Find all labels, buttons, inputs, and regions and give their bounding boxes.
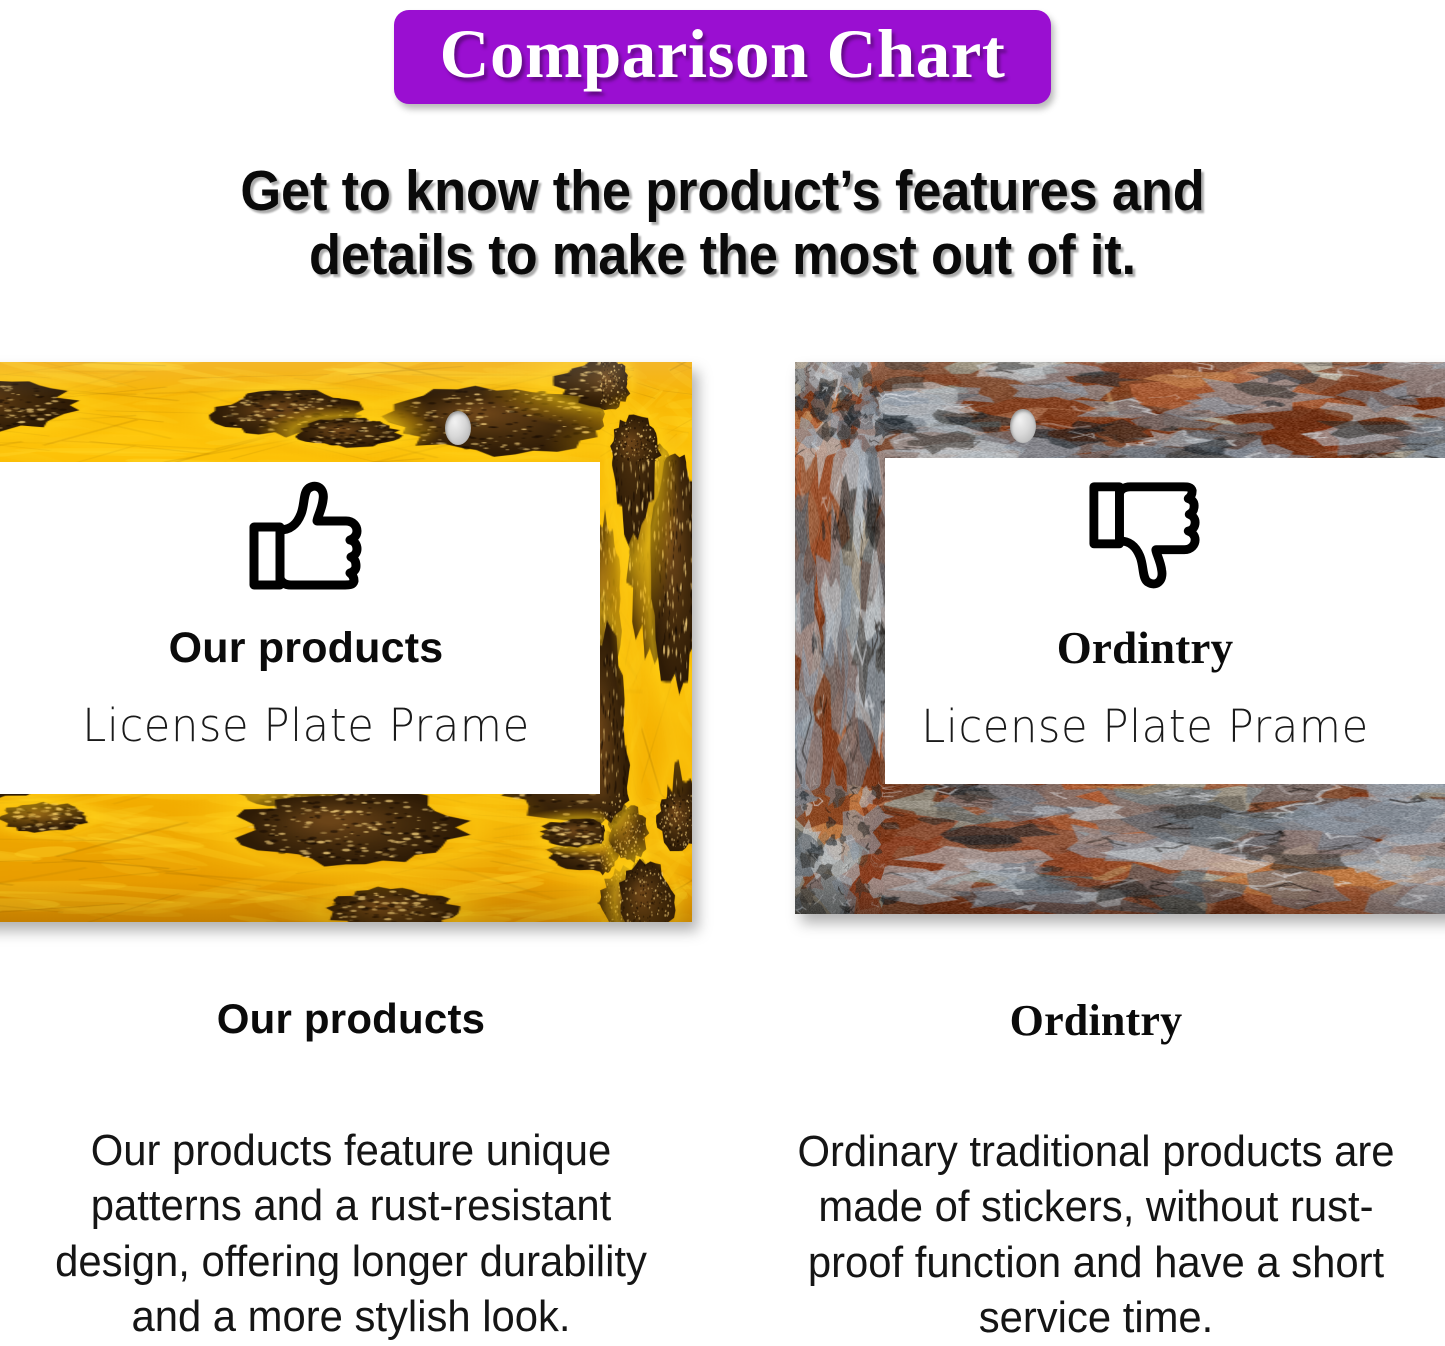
mounting-hole-left [445, 411, 471, 445]
left-product-subtitle: License Plate Prame [12, 699, 600, 752]
thumbs-up-icon [247, 480, 365, 592]
right-product-subtitle: License Plate Prame [891, 700, 1400, 753]
left-product-title: Our products [0, 624, 612, 673]
left-description-column: Our products Our products feature unique… [15, 995, 687, 1345]
subtitle: Get to know the product’s features and d… [58, 160, 1387, 288]
right-frame-content: Ordintry License Plate Prame [880, 478, 1410, 753]
page-title: Comparison Chart [440, 19, 1006, 89]
subtitle-line-1: Get to know the product’s features and [58, 160, 1387, 224]
subtitle-line-2: details to make the most out of it. [58, 224, 1387, 288]
right-column-heading: Ordintry [760, 995, 1432, 1046]
banner-container: Comparison Chart [0, 10, 1445, 104]
left-frame-content: Our products License Plate Prame [0, 480, 612, 752]
thumbs-down-icon [1087, 478, 1203, 590]
mounting-hole-right [1010, 409, 1036, 443]
left-column-heading: Our products [15, 995, 687, 1043]
right-description-column: Ordintry Ordinary traditional products a… [760, 995, 1432, 1346]
comparison-chart-banner: Comparison Chart [394, 10, 1052, 104]
right-product-title: Ordintry [880, 622, 1410, 674]
left-column-body: Our products feature unique patterns and… [32, 1123, 670, 1345]
right-column-body: Ordinary traditional products are made o… [777, 1124, 1415, 1346]
